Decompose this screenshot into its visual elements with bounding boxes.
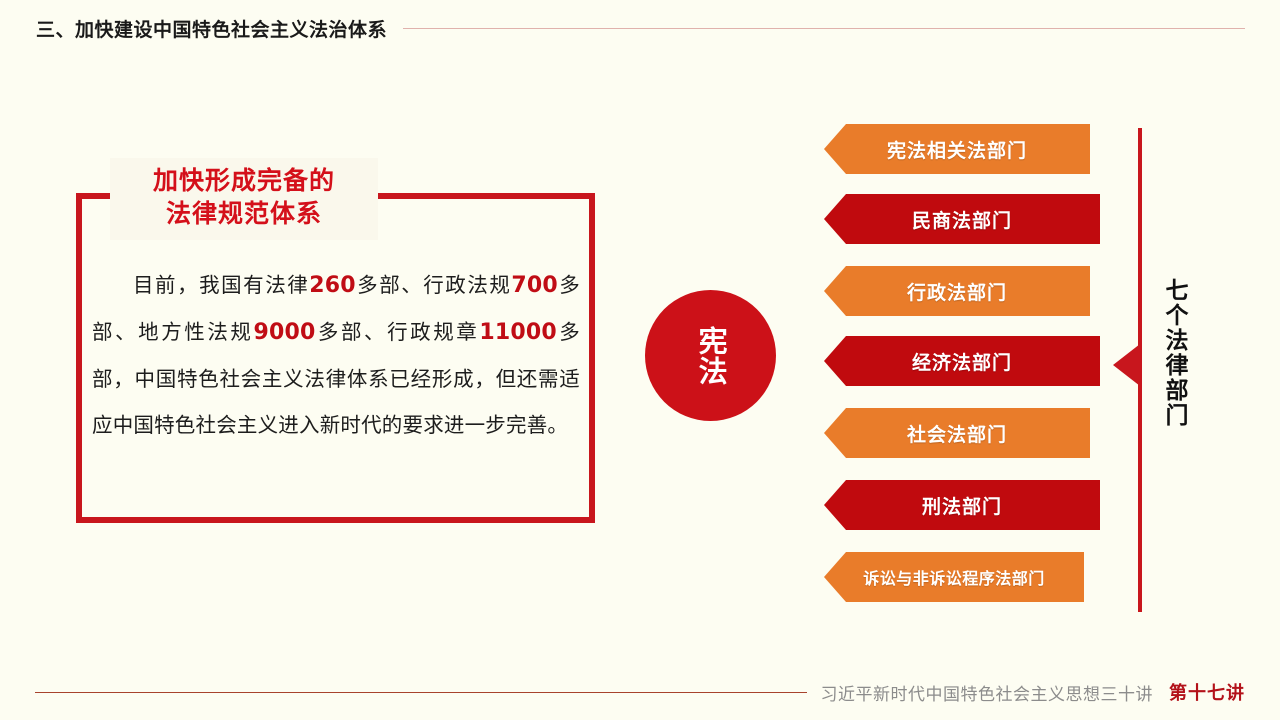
heading-line-1: 加快形成完备的 <box>120 164 368 197</box>
statistic-value: 11000 <box>479 320 557 345</box>
law-branch-arrow-label: 行政法部门 <box>907 278 1007 305</box>
slide-canvas: 三、加快建设中国特色社会主义法治体系 加快形成完备的 法律规范体系 目前，我国有… <box>0 0 1280 720</box>
paragraph-text: 多部、行政法规 <box>356 273 512 297</box>
law-branch-arrow-label: 经济法部门 <box>912 348 1012 375</box>
chevron-left-icon: 行政法部门 <box>824 266 1090 316</box>
paragraph-text: 多部、行政规章 <box>316 320 480 344</box>
law-branch-arrow[interactable]: 行政法部门 <box>824 266 1090 316</box>
footer-series-text: 习近平新时代中国特色社会主义思想三十讲 <box>821 680 1154 705</box>
slide-header: 三、加快建设中国特色社会主义法治体系 <box>0 0 1280 56</box>
page-title: 三、加快建设中国特色社会主义法治体系 <box>36 15 387 42</box>
left-box-heading: 加快形成完备的 法律规范体系 <box>110 158 378 240</box>
heading-line-2: 法律规范体系 <box>120 197 368 230</box>
law-branch-arrow[interactable]: 宪法相关法部门 <box>824 124 1090 174</box>
law-branch-arrow[interactable]: 经济法部门 <box>824 336 1100 386</box>
law-branch-arrow[interactable]: 刑法部门 <box>824 480 1100 530</box>
chevron-left-icon: 宪法相关法部门 <box>824 124 1090 174</box>
paragraph-text: 目前，我国有法律 <box>133 273 309 297</box>
chevron-left-icon: 诉讼与非诉讼程序法部门 <box>824 552 1084 602</box>
statistic-value: 260 <box>309 273 356 298</box>
chevron-left-icon: 民商法部门 <box>824 194 1100 244</box>
left-box-paragraph: 目前，我国有法律260多部、行政法规700多部、地方性法规9000多部、行政规章… <box>92 262 580 448</box>
chevron-left-icon: 经济法部门 <box>824 336 1100 386</box>
chevron-left-icon: 社会法部门 <box>824 408 1090 458</box>
law-branch-arrow-list: 宪法相关法部门民商法部门行政法部门经济法部门社会法部门刑法部门诉讼与非诉讼程序法… <box>824 124 1114 614</box>
law-branch-arrow[interactable]: 民商法部门 <box>824 194 1100 244</box>
statistic-value: 700 <box>511 273 558 298</box>
footer-lecture-number: 第十七讲 <box>1169 679 1245 705</box>
law-branch-arrow-label: 社会法部门 <box>907 420 1007 447</box>
constitution-circle-label: 宪法 <box>694 326 727 386</box>
footer-divider <box>35 692 807 693</box>
law-branch-arrow-label: 诉讼与非诉讼程序法部门 <box>863 565 1045 589</box>
constitution-circle: 宪法 <box>645 290 776 421</box>
header-divider <box>403 28 1245 29</box>
law-branch-arrow-label: 民商法部门 <box>912 206 1012 233</box>
law-branch-arrow[interactable]: 社会法部门 <box>824 408 1090 458</box>
right-axis-label: 七个法律部门 <box>1160 278 1188 428</box>
law-branch-arrow-label: 宪法相关法部门 <box>887 136 1027 163</box>
slide-footer: 习近平新时代中国特色社会主义思想三十讲 第十七讲 <box>0 664 1280 720</box>
right-axis-pointer-icon <box>1113 344 1140 386</box>
chevron-left-icon: 刑法部门 <box>824 480 1100 530</box>
law-branch-arrow-label: 刑法部门 <box>922 492 1002 519</box>
law-branch-arrow[interactable]: 诉讼与非诉讼程序法部门 <box>824 552 1084 602</box>
statistic-value: 9000 <box>253 320 315 345</box>
